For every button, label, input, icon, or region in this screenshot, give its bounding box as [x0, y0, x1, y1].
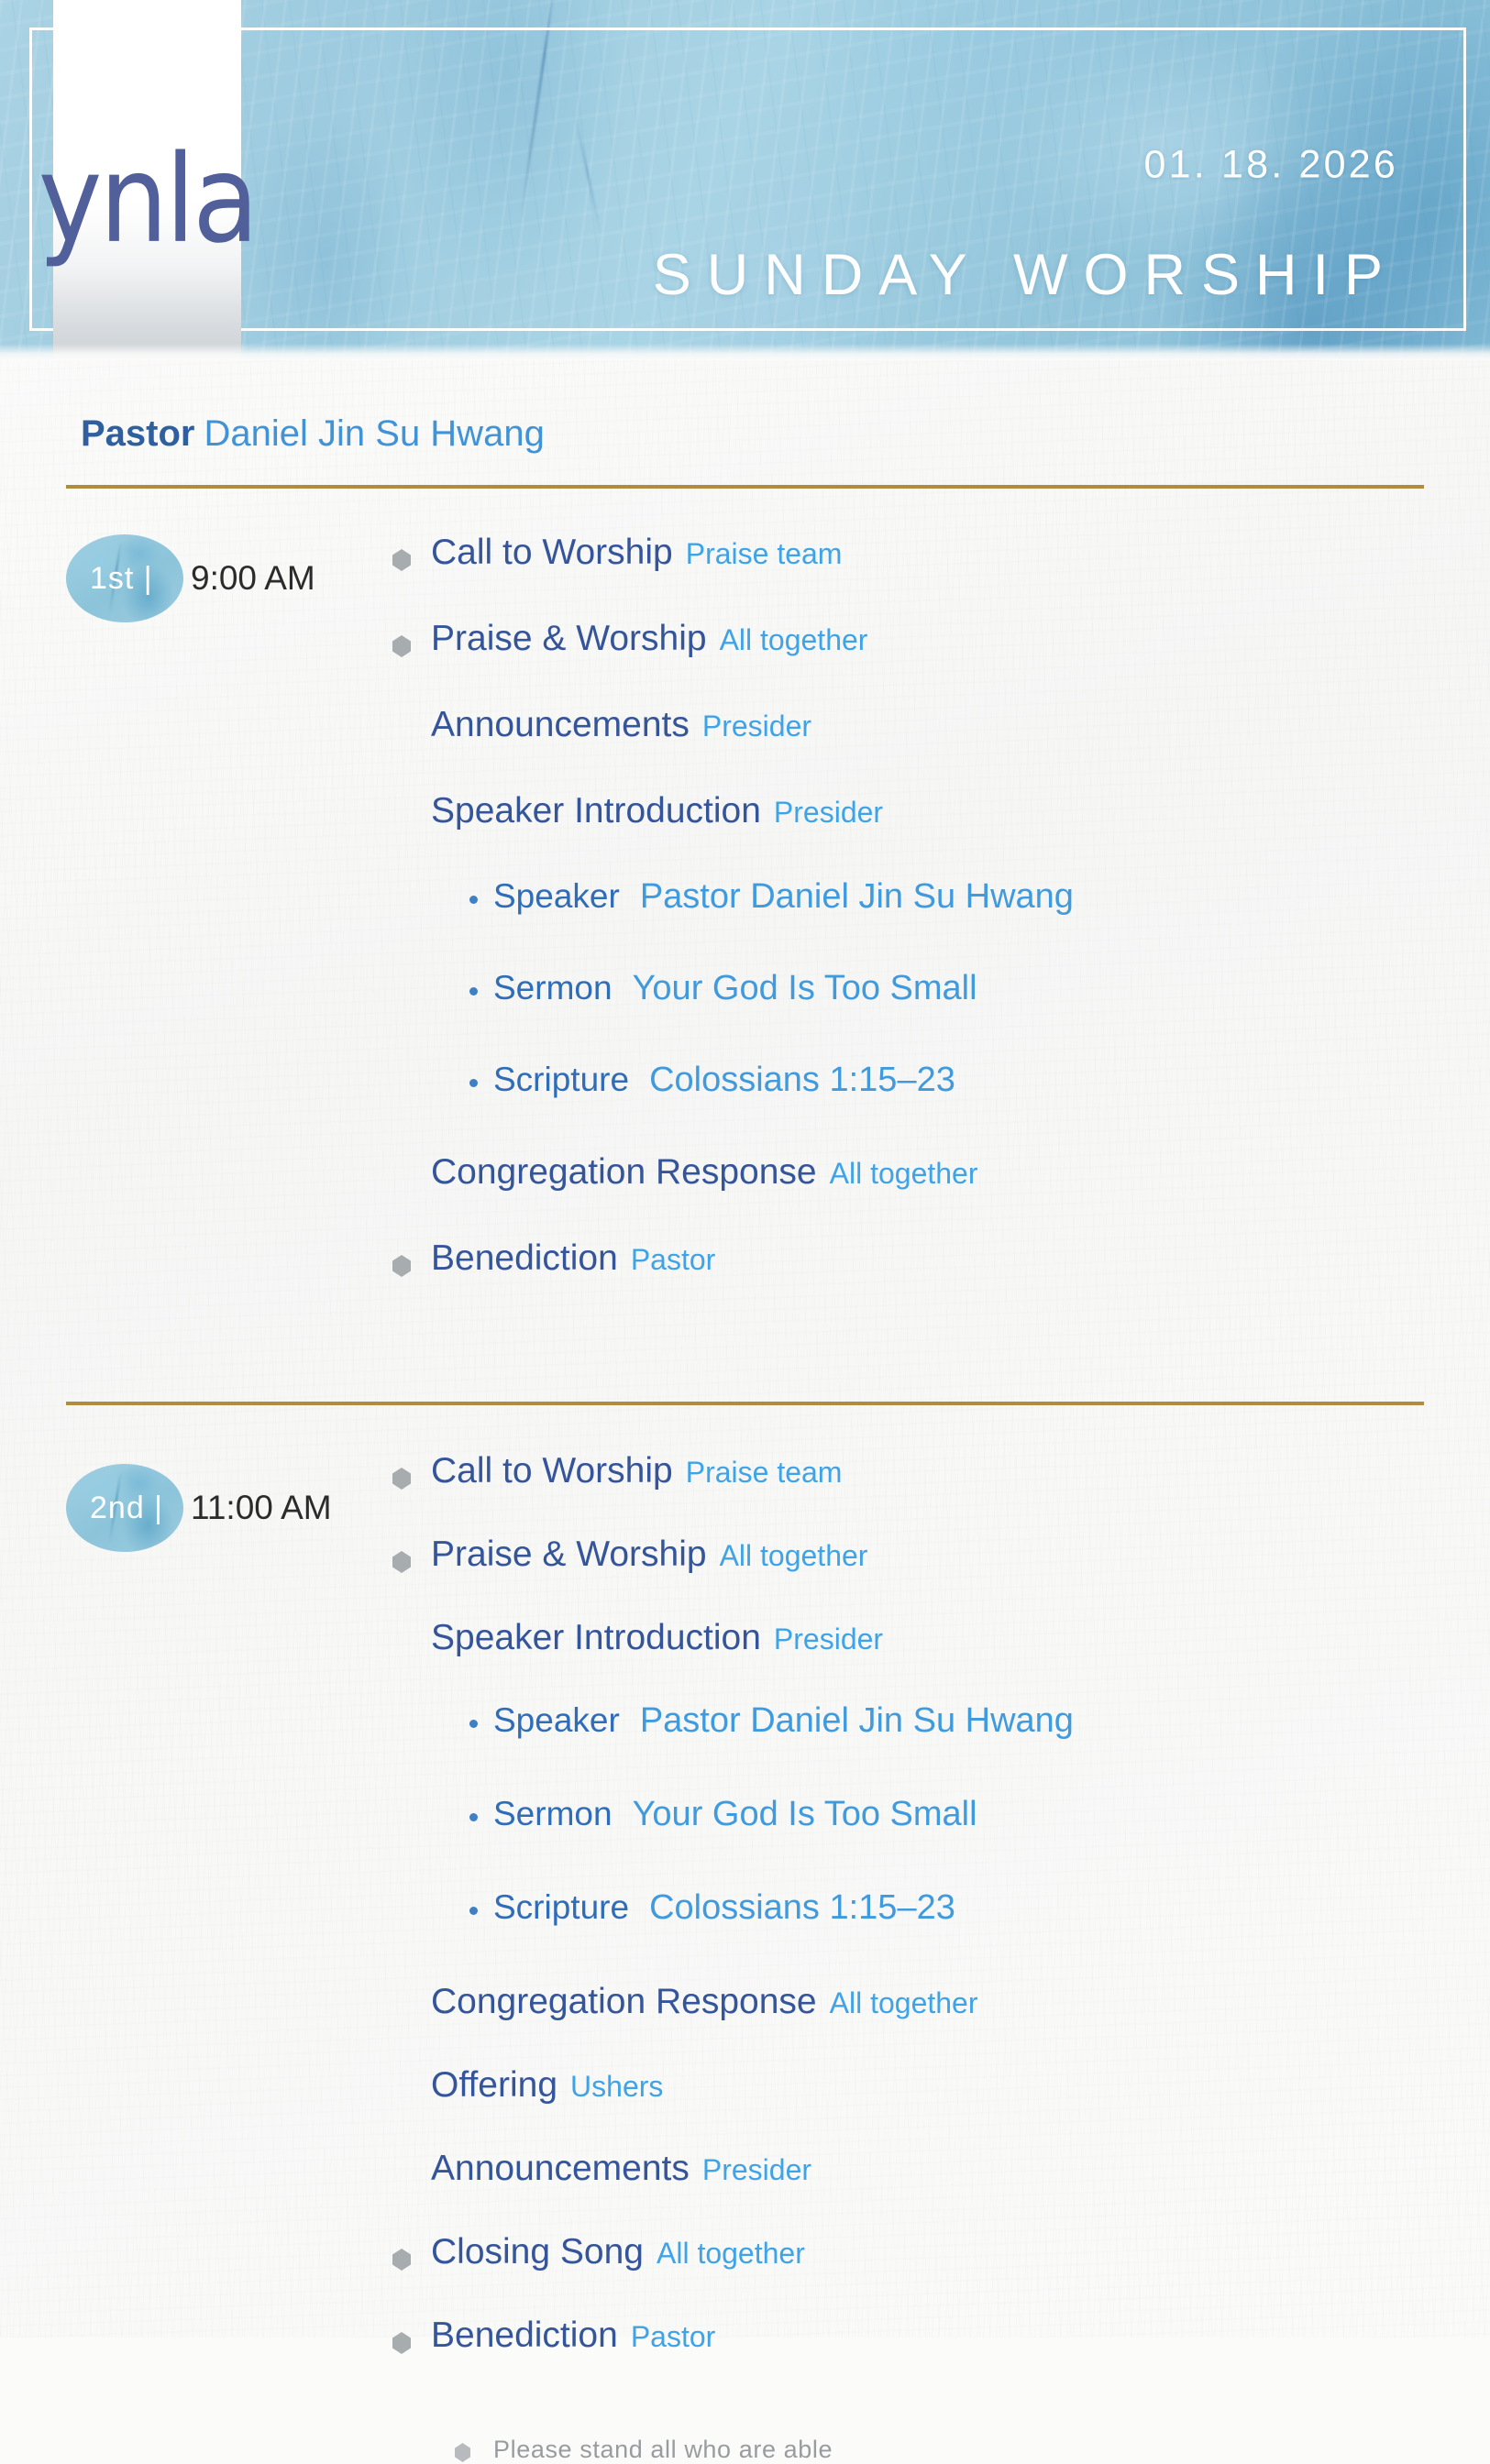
service-badge-circle: 2nd |	[66, 1468, 183, 1548]
order-item-role: All together	[720, 1539, 868, 1573]
bullet-placeholder	[392, 2165, 411, 2187]
order-item-title: Benediction	[431, 1238, 618, 1279]
order-item-role: All together	[830, 1157, 978, 1191]
order-subitem: SpeakerPastor Daniel Jin Su Hwang	[493, 1701, 1490, 1741]
order-item-title: Praise & Worship	[431, 619, 707, 659]
order-item: BenedictionPastor	[431, 2315, 1490, 2356]
bullet-placeholder	[392, 1634, 411, 1656]
services-list: 1st |9:00 AMCall to WorshipPraise teamPr…	[0, 489, 1490, 2436]
dot-bullet-icon	[469, 1907, 478, 1915]
service-block: 2nd |11:00 AMCall to WorshipPraise teamP…	[0, 1405, 1490, 2436]
order-item-role: Praise team	[686, 537, 843, 571]
order-item-title: Announcements	[431, 705, 690, 745]
order-item: Closing SongAll together	[431, 2232, 1490, 2272]
order-item: OfferingUshers	[431, 2065, 1490, 2106]
dot-bullet-icon	[469, 1813, 478, 1821]
order-item-title: Congregation Response	[431, 1982, 817, 2022]
service-ordinal: 1st |	[90, 561, 153, 597]
order-item-title: Call to Worship	[431, 533, 673, 573]
dot-bullet-icon	[469, 1079, 478, 1087]
order-item-role: All together	[720, 623, 868, 657]
standing-footnote: Please stand all who are able	[493, 2436, 1490, 2464]
hexagon-bullet-icon	[455, 2443, 470, 2462]
order-subitem: ScriptureColossians 1:15–23	[493, 1888, 1490, 1928]
bullet-placeholder	[392, 808, 411, 830]
hexagon-bullet-icon	[392, 1468, 411, 1490]
subitem-label: Sermon	[493, 1795, 613, 1833]
order-subitem: SermonYour God Is Too Small	[493, 969, 1490, 1008]
service-order-list: Call to WorshipPraise teamPraise & Worsh…	[431, 533, 1490, 1279]
order-item: Praise & WorshipAll together	[431, 1534, 1490, 1575]
subitem-value: Pastor Daniel Jin Su Hwang	[640, 1701, 1074, 1741]
order-item-role: Ushers	[570, 2070, 663, 2104]
order-item-title: Benediction	[431, 2315, 618, 2356]
service-block: 1st |9:00 AMCall to WorshipPraise teamPr…	[0, 489, 1490, 1369]
order-item-role: All together	[830, 1986, 978, 2020]
subitem-label: Speaker	[493, 1701, 620, 1740]
subitem-value: Your God Is Too Small	[633, 1795, 977, 1834]
order-item-title: Call to Worship	[431, 1451, 673, 1491]
order-item-title: Speaker Introduction	[431, 1618, 761, 1658]
order-item-title: Praise & Worship	[431, 1534, 707, 1575]
order-item-role: Presider	[702, 709, 811, 743]
dot-bullet-icon	[469, 1720, 478, 1728]
subitem-value: Your God Is Too Small	[633, 969, 977, 1008]
order-item-role: Presider	[774, 1622, 883, 1656]
order-item: AnnouncementsPresider	[431, 705, 1490, 745]
ynla-logo: ynla	[39, 137, 257, 258]
subitem-label: Scripture	[493, 1888, 629, 1927]
order-item: Call to WorshipPraise team	[431, 533, 1490, 573]
hexagon-bullet-icon	[392, 2332, 411, 2354]
service-ordinal: 2nd |	[90, 1490, 163, 1526]
dot-bullet-icon	[469, 987, 478, 995]
subitem-value: Colossians 1:15–23	[649, 1061, 955, 1100]
hexagon-bullet-icon	[392, 2249, 411, 2271]
page-header: ynla 01. 18. 2026 SUNDAY WORSHIP	[0, 0, 1490, 360]
subitem-label: Sermon	[493, 969, 613, 1007]
pastor-name: Daniel Jin Su Hwang	[204, 413, 545, 454]
header-bottom-fade	[0, 344, 1490, 360]
order-item-role: All together	[657, 2237, 805, 2271]
service-date: 01. 18. 2026	[1143, 143, 1398, 188]
order-subitem: SermonYour God Is Too Small	[493, 1795, 1490, 1834]
order-item: Congregation ResponseAll together	[431, 1152, 1490, 1193]
logo-panel: ynla	[53, 0, 241, 360]
hexagon-bullet-icon	[392, 635, 411, 657]
hexagon-bullet-icon	[392, 1551, 411, 1573]
bullet-placeholder	[392, 1169, 411, 1191]
dot-bullet-icon	[469, 896, 478, 904]
order-item: Call to WorshipPraise team	[431, 1451, 1490, 1491]
order-item: BenedictionPastor	[431, 1238, 1490, 1279]
subitem-label: Scripture	[493, 1061, 629, 1099]
order-item: Congregation ResponseAll together	[431, 1982, 1490, 2022]
order-item: Speaker IntroductionPresider	[431, 791, 1490, 831]
order-item-title: Congregation Response	[431, 1152, 817, 1193]
pastor-label: Pastor	[81, 413, 195, 454]
service-header: 2nd |11:00 AM	[66, 1468, 332, 1548]
order-item-role: Praise team	[686, 1456, 843, 1490]
bullet-placeholder	[392, 2082, 411, 2104]
order-item-title: Speaker Introduction	[431, 791, 761, 831]
bullet-placeholder	[392, 721, 411, 743]
service-time: 9:00 AM	[191, 559, 315, 598]
pastor-line: PastorDaniel Jin Su Hwang	[81, 415, 1490, 452]
service-time: 11:00 AM	[191, 1489, 332, 1527]
subitem-label: Speaker	[493, 877, 620, 916]
order-item-role: Presider	[702, 2153, 811, 2187]
service-order-list: Call to WorshipPraise teamPraise & Worsh…	[431, 1451, 1490, 2356]
order-item-role: Pastor	[631, 1243, 715, 1277]
order-item-role: Presider	[774, 796, 883, 830]
order-item-title: Closing Song	[431, 2232, 644, 2272]
order-item: Praise & WorshipAll together	[431, 619, 1490, 659]
hexagon-bullet-icon	[392, 549, 411, 571]
order-subitem: SpeakerPastor Daniel Jin Su Hwang	[493, 877, 1490, 917]
order-item-title: Announcements	[431, 2149, 690, 2189]
order-item: AnnouncementsPresider	[431, 2149, 1490, 2189]
subitem-value: Pastor Daniel Jin Su Hwang	[640, 877, 1074, 917]
order-subitem: ScriptureColossians 1:15–23	[493, 1061, 1490, 1100]
service-badge-circle: 1st |	[66, 538, 183, 619]
footnote-text: Please stand all who are able	[493, 2436, 833, 2464]
bullet-placeholder	[392, 1998, 411, 2020]
order-item-title: Offering	[431, 2065, 557, 2106]
page-title: SUNDAY WORSHIP	[653, 242, 1398, 308]
subitem-value: Colossians 1:15–23	[649, 1888, 955, 1928]
order-item: Speaker IntroductionPresider	[431, 1618, 1490, 1658]
bulletin-body: PastorDaniel Jin Su Hwang 1st |9:00 AMCa…	[0, 360, 1490, 2464]
service-header: 1st |9:00 AM	[66, 538, 315, 619]
hexagon-bullet-icon	[392, 1255, 411, 1277]
